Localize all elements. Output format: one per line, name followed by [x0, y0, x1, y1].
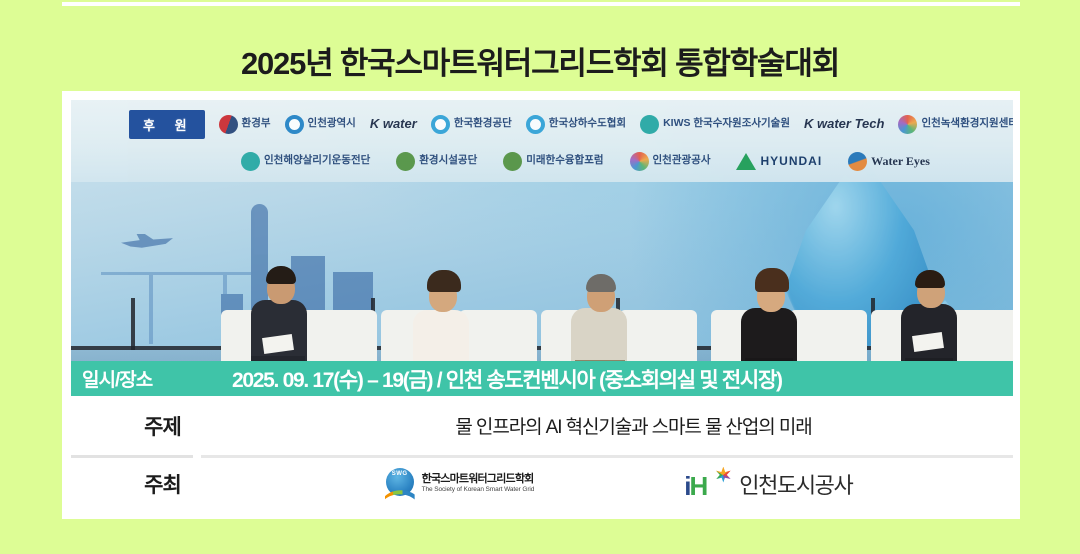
- taegeuk-icon: [219, 115, 238, 134]
- panelist-hair: [266, 266, 296, 284]
- date-location-value: 2025. 09. 17(수) – 19(금) / 인천 송도컨벤시아 (중소회…: [232, 364, 782, 394]
- sponsor-row-2: 인천해양살리기운동전단 환경시설공단 미래한수융합포럼 인천관광공사 HYUND: [71, 144, 1013, 178]
- organizer-row: 주최 SWG 한국스마트워터그리드학회 The Society of Korea…: [71, 456, 1013, 511]
- sponsor-logo-future-hydrogen-forum: 미래한수융합포럼: [503, 152, 603, 171]
- ring-icon: [431, 115, 450, 134]
- event-card: 후 원 환경부 인천광역시 K water 한국환경공단: [62, 91, 1020, 519]
- sponsor-logo-label: 한국상하수도협회: [549, 118, 626, 129]
- sponsor-logo-label: 인천광역시: [308, 118, 356, 129]
- swg-logo-text: 한국스마트워터그리드학회 The Society of Korean Smart…: [422, 473, 535, 494]
- sponsor-logo-kwater: K water: [370, 117, 417, 131]
- multicolor-icon: [630, 152, 649, 171]
- date-location-label: 일시/장소: [82, 365, 232, 392]
- sponsor-logo-label: K water: [370, 117, 417, 131]
- sponsor-logo-label: 인천녹색환경지원센터: [921, 118, 1013, 129]
- sponsor-logo-env-facility-corp: 환경시설공단: [396, 152, 477, 171]
- starburst-icon: [715, 467, 731, 483]
- airplane-icon: [121, 234, 173, 250]
- sponsor-logo-label: 인천해양살리기운동전단: [264, 155, 370, 166]
- subject-label: 주제: [71, 411, 254, 441]
- ih-emblem-icon: iH: [684, 467, 732, 501]
- sponsor-logo-incheon-tourism: 인천관광공사: [630, 152, 711, 171]
- circle-icon: [640, 115, 659, 134]
- sponsor-logo-incheon-city: 인천광역시: [285, 115, 356, 134]
- sponsor-logo-korea-environment-corp: 한국환경공단: [431, 115, 512, 134]
- sponsor-logo-label: 환경부: [242, 118, 271, 129]
- page-title: 2025년 한국스마트워터그리드학회 통합학술대회: [0, 38, 1080, 83]
- sponsor-logo-kiws: KIWS 한국수자원조사기술원: [640, 115, 790, 134]
- sponsor-logo-water-eyes: Water Eyes: [848, 152, 930, 171]
- organizer-logos: SWG 한국스마트워터그리드학회 The Society of Korean S…: [254, 467, 1013, 501]
- ring-icon: [285, 115, 304, 134]
- sponsor-logo-incheon-marine: 인천해양살리기운동전단: [241, 152, 370, 171]
- sponsor-row-1: 후 원 환경부 인천광역시 K water 한국환경공단: [71, 106, 1013, 142]
- railing-post: [131, 298, 135, 350]
- sponsor-logo-kwater-tech: K water Tech: [804, 117, 884, 131]
- sponsor-logo-label: K water Tech: [804, 117, 884, 131]
- multicolor-icon: [898, 115, 917, 134]
- date-location-bar: 일시/장소 2025. 09. 17(수) – 19(금) / 인천 송도컨벤시…: [71, 361, 1013, 396]
- ring-icon: [526, 115, 545, 134]
- panelist-hair: [915, 270, 945, 288]
- top-divider-rule: [62, 2, 1020, 6]
- ih-letters: iH: [684, 473, 706, 499]
- organizer-label: 주최: [71, 469, 254, 499]
- sponsor-logo-label: 한국환경공단: [454, 118, 512, 129]
- sponsor-logo-ministry-of-environment: 환경부: [219, 115, 271, 134]
- swg-acronym: SWG: [385, 471, 415, 477]
- organizer-logo-swg: SWG 한국스마트워터그리드학회 The Society of Korean S…: [385, 468, 535, 500]
- wave-icon: [848, 152, 867, 171]
- sponsor-logo-label: 인천관광공사: [653, 155, 711, 166]
- panelist-hair: [427, 270, 461, 292]
- triangle-icon: [736, 153, 756, 170]
- circle-icon: [396, 152, 415, 171]
- panel-discussion-photo: 후 원 환경부 인천광역시 K water 한국환경공단: [71, 100, 1013, 396]
- circle-icon: [503, 152, 522, 171]
- sponsor-logo-hyundai: HYUNDAI: [736, 153, 822, 170]
- swg-name-ko: 한국스마트워터그리드학회: [422, 473, 535, 486]
- sponsor-logo-label: KIWS 한국수자원조사기술원: [663, 118, 790, 129]
- ih-name-ko: 인천도시공사: [739, 468, 852, 500]
- panelist-hair: [755, 268, 789, 292]
- panelist-hair: [586, 274, 616, 292]
- swg-name-en: The Society of Korean Smart Water Grid: [422, 486, 535, 494]
- swg-emblem-icon: SWG: [385, 468, 415, 500]
- sponsor-logo-label: 미래한수융합포럼: [526, 155, 603, 166]
- subject-row: 주제 물 인프라의 AI 혁신기술과 스마트 물 산업의 미래: [71, 396, 1013, 455]
- sponsor-logo-label: 환경시설공단: [419, 155, 477, 166]
- subject-value: 물 인프라의 AI 혁신기술과 스마트 물 산업의 미래: [254, 412, 1013, 439]
- sponsor-logo-label: HYUNDAI: [760, 155, 822, 168]
- sponsor-logo-waterworks-assoc: 한국상하수도협회: [526, 115, 626, 134]
- organizer-logo-ih: iH 인천도시공사: [684, 467, 852, 501]
- sponsor-banner-strip: 후 원 환경부 인천광역시 K water 한국환경공단: [71, 100, 1013, 182]
- sponsor-logo-incheon-green-env-center: 인천녹색환경지원센터: [898, 115, 1013, 134]
- huwon-label: 후 원: [129, 110, 205, 139]
- sponsor-logo-label: Water Eyes: [871, 155, 930, 168]
- circle-icon: [241, 152, 260, 171]
